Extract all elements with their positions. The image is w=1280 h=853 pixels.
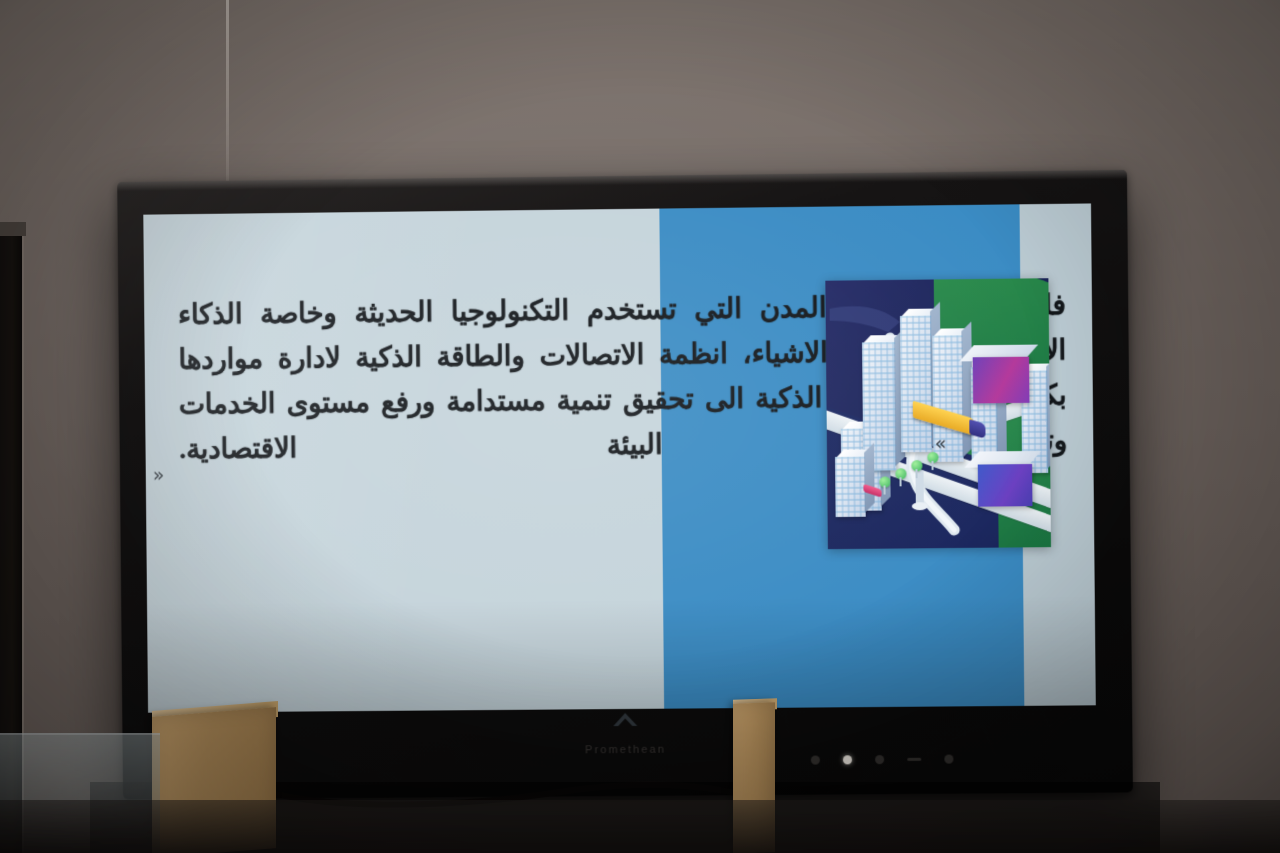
illustration-tree (911, 460, 922, 471)
illustration-tree (895, 468, 906, 479)
chevron-right-icon: » (153, 466, 165, 485)
floor-dark-band (0, 800, 1280, 853)
power-indicator-icon[interactable] (811, 755, 820, 764)
bar-indicator-icon (907, 757, 921, 760)
display-screen[interactable]: فالمدن الذكية هي المدن التي تستخدم التكن… (143, 203, 1096, 712)
illustration-magenta-building (973, 357, 1030, 404)
brand-label: Promethean (585, 744, 666, 757)
illustration-building (835, 457, 866, 517)
wall-seam (226, 0, 229, 200)
menu-dot-icon[interactable] (875, 755, 884, 764)
chevron-left-icon: « (935, 435, 947, 454)
room-background: فالمدن الذكية هي المدن التي تستخدم التكن… (0, 0, 1280, 853)
illustration-tree (879, 476, 890, 487)
sensor-led-icon (843, 755, 852, 764)
status-dot-icon (944, 754, 953, 763)
caret-up-icon (612, 712, 638, 727)
bezel-top-highlight (117, 170, 1127, 191)
smart-city-illustration (825, 278, 1051, 549)
illustration-building (900, 316, 932, 453)
left-dark-doorway-header (0, 222, 26, 236)
building-side (864, 443, 875, 513)
illustration-blue-box (978, 464, 1033, 507)
display-bottom-controls[interactable] (811, 751, 1002, 766)
